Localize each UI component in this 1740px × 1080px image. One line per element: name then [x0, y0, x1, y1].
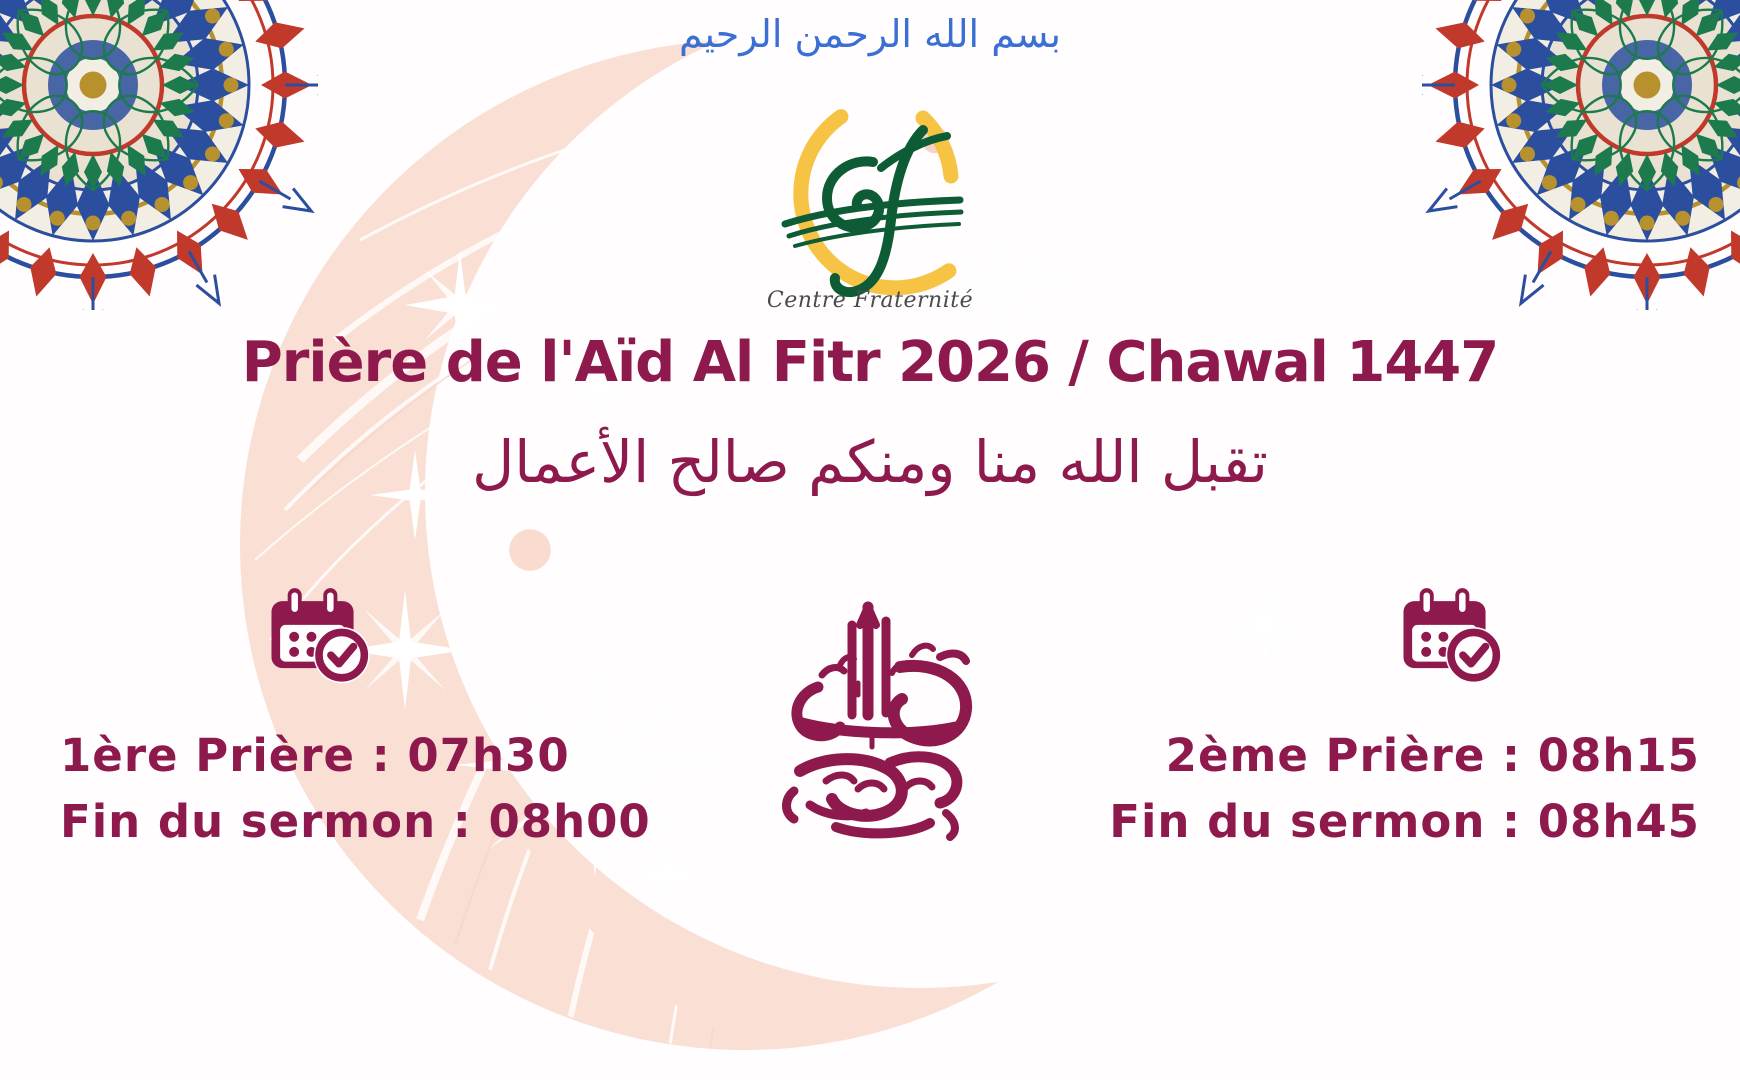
- prayer-block-first: 1ère Prière : 07h30 Fin du sermon : 08h0…: [50, 585, 670, 855]
- first-sermon-time-line: Fin du sermon : 08h00: [50, 789, 670, 855]
- prayer-block-second: 2ème Prière : 08h15 Fin du sermon : 08h4…: [1090, 585, 1710, 855]
- second-sermon-time-line: Fin du sermon : 08h45: [1090, 789, 1710, 855]
- eid-prayer-poster: بسم الله الرحمن الرحيم Centre Fraternité…: [0, 0, 1740, 1080]
- calendar-check-icon: [1397, 585, 1505, 695]
- duaa-arabic-text: تقبل الله منا ومنكم صالح الأعمال: [0, 428, 1740, 496]
- second-prayer-time-line: 2ème Prière : 08h15: [1090, 723, 1710, 789]
- logo-caption: Centre Fraternité: [767, 288, 973, 313]
- page-title: Prière de l'Aïd Al Fitr 2026 / Chawal 14…: [0, 330, 1740, 395]
- sparkle-dot-icon: [490, 510, 570, 590]
- basmala-text: بسم الله الرحمن الرحيم: [0, 6, 1740, 62]
- eid-mubarak-calligraphy: [740, 595, 1000, 845]
- first-prayer-time-line: 1ère Prière : 07h30: [50, 723, 670, 789]
- calendar-check-icon: [265, 585, 373, 695]
- centre-fraternite-logo: [755, 96, 985, 316]
